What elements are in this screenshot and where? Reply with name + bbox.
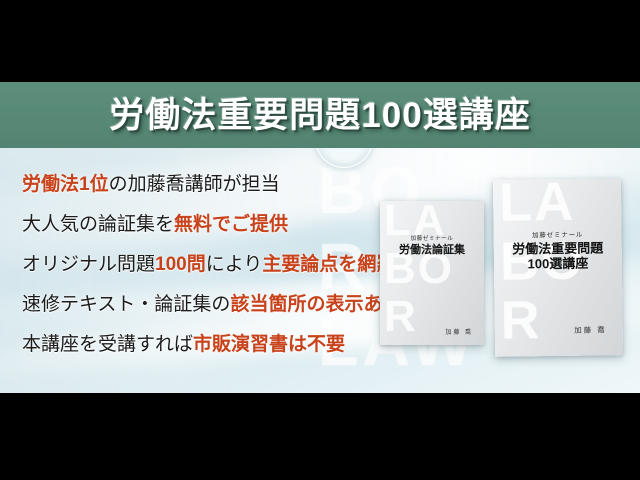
book-watermark-line-4: LAW [384, 341, 484, 345]
bullet-2-highlight: 無料でご提供 [174, 214, 288, 235]
bullet-3-highlight: 100問 [155, 254, 206, 275]
bullet-3-highlight-2: 主要論点を網羅 [262, 254, 395, 275]
book-publisher: 加藤ゼミナール [494, 228, 622, 240]
bullet-4-highlight: 該当箇所の表示あり [230, 294, 401, 315]
book-watermark-line-3: R [500, 290, 623, 350]
bullet-5-highlight: 市販演習書は不要 [193, 334, 345, 355]
bullet-2-plain: 大人気の論証集を [22, 214, 174, 235]
book-cover-100sen: LA BO R LAW 加藤ゼミナール 労働法重要問題 100選講座 加藤 喬 [493, 178, 623, 357]
book-title-line-1: 労働法重要問題 [494, 240, 622, 257]
bullet-1-highlight: 労働法1位 [22, 174, 109, 195]
letterbox-bottom [0, 393, 640, 480]
bullet-3-plain: オリジナル問題 [22, 254, 155, 275]
bullet-1-plain: の加藤喬講師が担当 [109, 174, 280, 195]
title-band: 労働法重要問題100選講座 [0, 82, 640, 148]
book-title: 労働法重要問題 100選講座 [494, 240, 622, 272]
book-author: 加藤 喬 [574, 324, 607, 335]
list-item: 労働法1位の加藤喬講師が担当 [22, 175, 452, 194]
bullet-5-plain: 本講座を受講すれば [22, 334, 193, 355]
book-title-line-2: 100選講座 [494, 256, 622, 273]
page-title: 労働法重要問題100選講座 [109, 98, 530, 133]
letterbox-top [0, 0, 640, 82]
bullet-4-plain: 速修テキスト・論証集の [22, 294, 230, 315]
book-publisher: 加藤ゼミナール [380, 234, 484, 242]
book-cover-ronshoshu: LA BO R LAW 加藤ゼミナール 労働法論証集 加藤 喬 [380, 201, 484, 345]
book-cover-watermark: LA BO R LAW [384, 201, 484, 345]
video-slide: LA BO R LAW 労働法1位の加藤喬講師が担当 大人気の論証集を無料でご提… [0, 0, 640, 480]
book-watermark-line-4: LAW [501, 349, 623, 357]
book-title: 労働法論証集 [380, 244, 484, 257]
book-watermark-line-1: LA [499, 178, 622, 232]
bullet-3-plain-2: により [206, 254, 263, 275]
book-author: 加藤 喬 [445, 327, 473, 336]
